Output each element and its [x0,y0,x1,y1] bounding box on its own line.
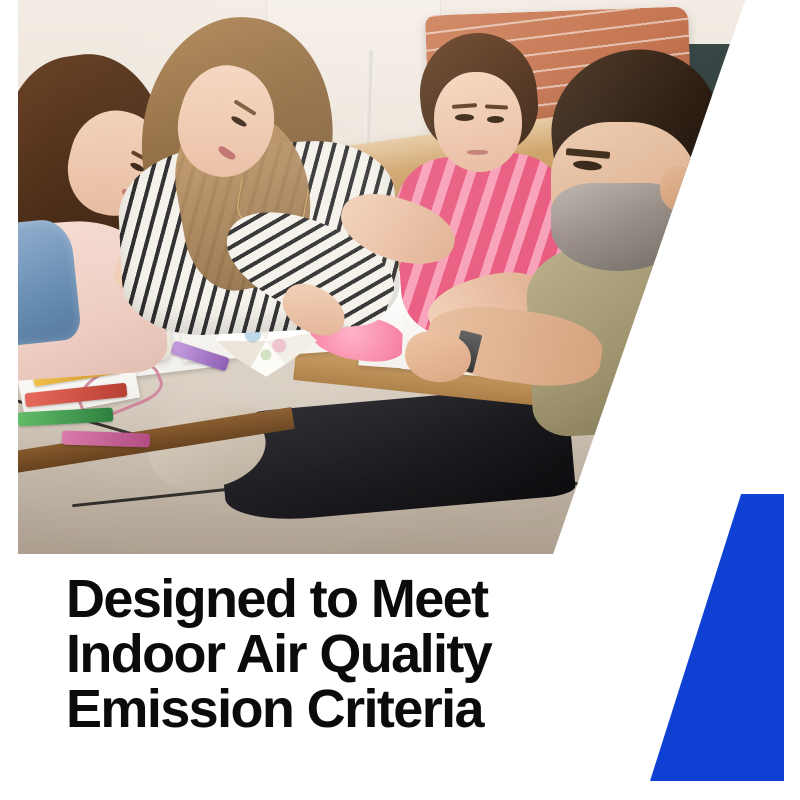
photo-scene [18,0,748,554]
blue-accent-wedge [650,494,784,781]
woman-eye [230,115,248,128]
man-ear [660,166,697,210]
headline-line-2: Indoor Air Quality [66,627,626,682]
headline-line-1: Designed to Meet [66,572,626,627]
boy-face [434,72,522,172]
boy-eye-left [455,114,474,121]
woman-eyebrow [233,100,256,117]
boy-eyebrow-left [452,103,477,109]
boy-eye-right [487,116,505,123]
headline-line-3: Emission Criteria [66,682,626,737]
boy-mouth [467,150,488,155]
woman-mouth [217,145,237,162]
poster-canvas: Designed to Meet Indoor Air Quality Emis… [0,0,800,800]
page-title: Designed to Meet Indoor Air Quality Emis… [66,572,626,737]
boy-eyebrow-right [485,104,508,109]
hero-photo [18,0,748,554]
